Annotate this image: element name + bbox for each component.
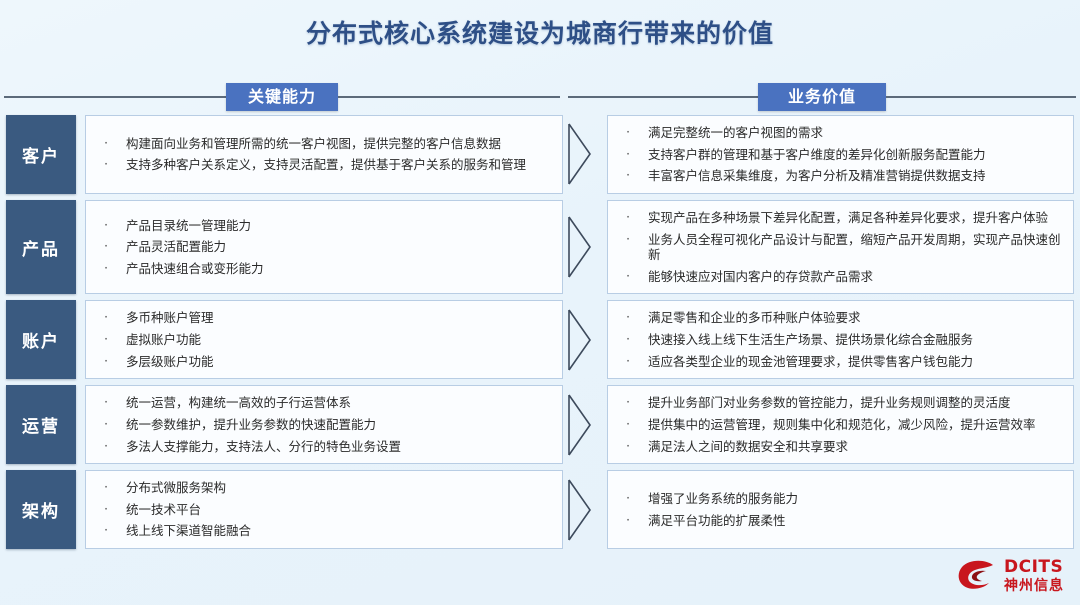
bullet-text: 线上线下渠道智能融合 — [126, 523, 552, 539]
bullet-item: ·快速接入线上线下生活生产场景、提供场景化综合金融服务 — [608, 329, 1073, 351]
dcits-swoosh-icon — [957, 559, 997, 593]
header-chip-business-value: 业务价值 — [758, 83, 886, 111]
bullet-text: 统一技术平台 — [126, 502, 552, 518]
bullet-item: ·分布式微服务架构 — [86, 477, 562, 499]
matrix-rows: 客户·构建面向业务和管理所需的统一客户视图，提供完整的客户信息数据·支持多种客户… — [0, 115, 1080, 555]
bullet-item: ·虚拟账户功能 — [86, 329, 562, 351]
bullet-item: ·支持多种客户关系定义，支持灵活配置，提供基于客户关系的服务和管理 — [86, 154, 562, 176]
bullet-item: ·统一技术平台 — [86, 499, 562, 521]
bullet-dot-icon: · — [86, 439, 126, 454]
logo-text-en: DCITS — [1004, 559, 1064, 576]
bullet-item: ·能够快速应对国内客户的存贷款产品需求 — [608, 266, 1073, 288]
bullet-dot-icon: · — [608, 513, 648, 528]
flow-arrow-icon — [563, 300, 607, 379]
bullet-item: ·满足零售和企业的多币种账户体验要求 — [608, 307, 1073, 329]
flow-arrow-icon — [563, 385, 607, 464]
bullet-text: 提供集中的运营管理，规则集中化和规范化，减少风险，提升运营效率 — [648, 417, 1063, 433]
bullet-item: ·产品灵活配置能力 — [86, 236, 562, 258]
bullet-item: ·多法人支撑能力，支持法人、分行的特色业务设置 — [86, 436, 562, 458]
flow-arrow-icon — [563, 200, 607, 295]
bullet-text: 构建面向业务和管理所需的统一客户视图，提供完整的客户信息数据 — [126, 136, 552, 152]
capability-box: ·统一运营，构建统一高效的子行运营体系·统一参数维护，提升业务参数的快速配置能力… — [85, 385, 563, 464]
bullet-dot-icon: · — [86, 261, 126, 276]
bullet-text: 丰富客户信息采集维度，为客户分析及精准营销提供数据支持 — [648, 168, 1063, 184]
matrix-row: 架构·分布式微服务架构·统一技术平台·线上线下渠道智能融合·增强了业务系统的服务… — [0, 470, 1080, 549]
bullet-text: 满足平台功能的扩展柔性 — [648, 513, 1063, 529]
bullet-item: ·统一运营，构建统一高效的子行运营体系 — [86, 392, 562, 414]
column-header-band: 关键能力 业务价值 — [0, 82, 1080, 112]
bullet-dot-icon: · — [86, 354, 126, 369]
matrix-row: 运营·统一运营，构建统一高效的子行运营体系·统一参数维护，提升业务参数的快速配置… — [0, 385, 1080, 464]
bullet-dot-icon: · — [608, 354, 648, 369]
bullet-text: 业务人员全程可视化产品设计与配置，缩短产品开发周期，实现产品快速创新 — [648, 232, 1063, 263]
bullet-item: ·增强了业务系统的服务能力 — [608, 488, 1073, 510]
flow-arrow-icon — [563, 470, 607, 549]
bullet-dot-icon: · — [86, 395, 126, 410]
row-tag-4: 架构 — [6, 470, 76, 549]
bullet-text: 增强了业务系统的服务能力 — [648, 491, 1063, 507]
bullet-text: 适应各类型企业的现金池管理要求，提供零售客户钱包能力 — [648, 354, 1063, 370]
bullet-dot-icon: · — [608, 395, 648, 410]
bullet-item: ·构建面向业务和管理所需的统一客户视图，提供完整的客户信息数据 — [86, 133, 562, 155]
page-title: 分布式核心系统建设为城商行带来的价值 — [0, 14, 1080, 50]
logo-text-cn: 神州信息 — [1004, 579, 1064, 593]
bullet-item: ·提升业务部门对业务参数的管控能力，提升业务规则调整的灵活度 — [608, 392, 1073, 414]
business-value-box: ·提升业务部门对业务参数的管控能力，提升业务规则调整的灵活度·提供集中的运营管理… — [607, 385, 1074, 464]
bullet-item: ·业务人员全程可视化产品设计与配置，缩短产品开发周期，实现产品快速创新 — [608, 229, 1073, 266]
bullet-item: ·提供集中的运营管理，规则集中化和规范化，减少风险，提升运营效率 — [608, 414, 1073, 436]
bullet-text: 快速接入线上线下生活生产场景、提供场景化综合金融服务 — [648, 332, 1063, 348]
bullet-text: 能够快速应对国内客户的存贷款产品需求 — [648, 269, 1063, 285]
bullet-text: 统一运营，构建统一高效的子行运营体系 — [126, 395, 552, 411]
right-column-header: 业务价值 — [568, 82, 1076, 112]
bullet-dot-icon: · — [608, 168, 648, 183]
bullet-dot-icon: · — [608, 310, 648, 325]
header-rule-right — [568, 96, 758, 98]
header-rule-left-2 — [338, 96, 560, 98]
bullet-dot-icon: · — [86, 136, 126, 151]
bullet-text: 虚拟账户功能 — [126, 332, 552, 348]
header-rule-left — [4, 96, 226, 98]
business-value-box: ·实现产品在多种场景下差异化配置，满足各种差异化要求，提升客户体验·业务人员全程… — [607, 200, 1074, 295]
bullet-text: 多层级账户功能 — [126, 354, 552, 370]
flow-arrow-icon — [563, 115, 607, 194]
bullet-text: 产品目录统一管理能力 — [126, 218, 552, 234]
bullet-dot-icon: · — [608, 491, 648, 506]
bullet-dot-icon: · — [86, 239, 126, 254]
business-value-box: ·增强了业务系统的服务能力·满足平台功能的扩展柔性 — [607, 470, 1074, 549]
capability-box: ·分布式微服务架构·统一技术平台·线上线下渠道智能融合 — [85, 470, 563, 549]
row-tag-3: 运营 — [6, 385, 76, 464]
bullet-dot-icon: · — [608, 417, 648, 432]
capability-box: ·产品目录统一管理能力·产品灵活配置能力·产品快速组合或变形能力 — [85, 200, 563, 295]
bullet-text: 产品灵活配置能力 — [126, 239, 552, 255]
bullet-text: 多币种账户管理 — [126, 310, 552, 326]
bullet-dot-icon: · — [86, 417, 126, 432]
bullet-dot-icon: · — [608, 147, 648, 162]
header-chip-capabilities: 关键能力 — [226, 83, 338, 111]
bullet-item: ·满足完整统一的客户视图的需求 — [608, 122, 1073, 144]
left-column-header: 关键能力 — [4, 82, 560, 112]
bullet-dot-icon: · — [86, 523, 126, 538]
bullet-item: ·统一参数维护，提升业务参数的快速配置能力 — [86, 414, 562, 436]
bullet-item: ·适应各类型企业的现金池管理要求，提供零售客户钱包能力 — [608, 351, 1073, 373]
row-tag-1: 产品 — [6, 200, 76, 295]
capability-box: ·多币种账户管理·虚拟账户功能·多层级账户功能 — [85, 300, 563, 379]
business-value-box: ·满足零售和企业的多币种账户体验要求·快速接入线上线下生活生产场景、提供场景化综… — [607, 300, 1074, 379]
bullet-text: 分布式微服务架构 — [126, 480, 552, 496]
bullet-item: ·产品快速组合或变形能力 — [86, 258, 562, 280]
bullet-text: 产品快速组合或变形能力 — [126, 261, 552, 277]
row-tag-2: 账户 — [6, 300, 76, 379]
bullet-dot-icon: · — [608, 232, 648, 247]
bullet-item: ·丰富客户信息采集维度，为客户分析及精准营销提供数据支持 — [608, 165, 1073, 187]
bullet-text: 实现产品在多种场景下差异化配置，满足各种差异化要求，提升客户体验 — [648, 210, 1063, 226]
capability-box: ·构建面向业务和管理所需的统一客户视图，提供完整的客户信息数据·支持多种客户关系… — [85, 115, 563, 194]
bullet-dot-icon: · — [86, 332, 126, 347]
matrix-row: 账户·多币种账户管理·虚拟账户功能·多层级账户功能·满足零售和企业的多币种账户体… — [0, 300, 1080, 379]
company-logo: DCITS 神州信息 — [957, 559, 1064, 593]
bullet-dot-icon: · — [608, 125, 648, 140]
bullet-text: 满足法人之间的数据安全和共享要求 — [648, 439, 1063, 455]
bullet-dot-icon: · — [86, 502, 126, 517]
bullet-text: 多法人支撑能力，支持法人、分行的特色业务设置 — [126, 439, 552, 455]
business-value-box: ·满足完整统一的客户视图的需求·支持客户群的管理和基于客户维度的差异化创新服务配… — [607, 115, 1074, 194]
bullet-item: ·多币种账户管理 — [86, 307, 562, 329]
matrix-row: 产品·产品目录统一管理能力·产品灵活配置能力·产品快速组合或变形能力·实现产品在… — [0, 200, 1080, 295]
matrix-row: 客户·构建面向业务和管理所需的统一客户视图，提供完整的客户信息数据·支持多种客户… — [0, 115, 1080, 194]
bullet-text: 提升业务部门对业务参数的管控能力，提升业务规则调整的灵活度 — [648, 395, 1063, 411]
bullet-dot-icon: · — [86, 480, 126, 495]
bullet-text: 满足零售和企业的多币种账户体验要求 — [648, 310, 1063, 326]
row-tag-0: 客户 — [6, 115, 76, 194]
bullet-dot-icon: · — [608, 332, 648, 347]
bullet-dot-icon: · — [86, 218, 126, 233]
bullet-text: 支持多种客户关系定义，支持灵活配置，提供基于客户关系的服务和管理 — [126, 157, 552, 173]
bullet-text: 满足完整统一的客户视图的需求 — [648, 125, 1063, 141]
bullet-dot-icon: · — [608, 210, 648, 225]
bullet-item: ·支持客户群的管理和基于客户维度的差异化创新服务配置能力 — [608, 144, 1073, 166]
logo-wordmark: DCITS 神州信息 — [1004, 559, 1064, 593]
bullet-item: ·产品目录统一管理能力 — [86, 215, 562, 237]
bullet-item: ·满足法人之间的数据安全和共享要求 — [608, 436, 1073, 458]
header-rule-right-2 — [886, 96, 1076, 98]
bullet-item: ·满足平台功能的扩展柔性 — [608, 510, 1073, 532]
bullet-item: ·多层级账户功能 — [86, 351, 562, 373]
bullet-dot-icon: · — [608, 439, 648, 454]
bullet-text: 统一参数维护，提升业务参数的快速配置能力 — [126, 417, 552, 433]
bullet-text: 支持客户群的管理和基于客户维度的差异化创新服务配置能力 — [648, 147, 1063, 163]
bullet-dot-icon: · — [86, 157, 126, 172]
bullet-item: ·线上线下渠道智能融合 — [86, 520, 562, 542]
bullet-dot-icon: · — [86, 310, 126, 325]
bullet-item: ·实现产品在多种场景下差异化配置，满足各种差异化要求，提升客户体验 — [608, 207, 1073, 229]
bullet-dot-icon: · — [608, 269, 648, 284]
